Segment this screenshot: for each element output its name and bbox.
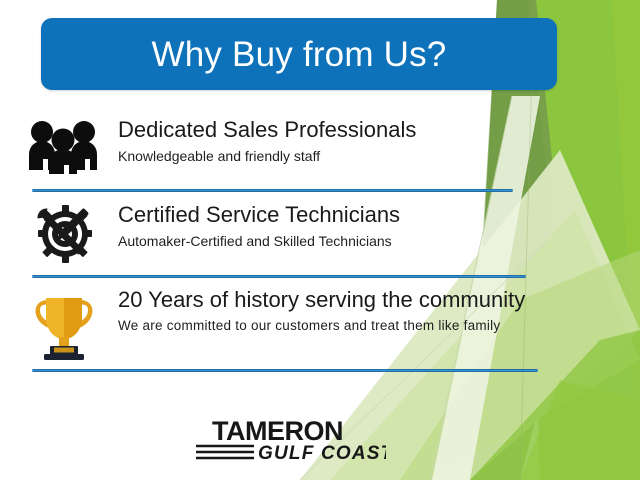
trophy-icon: [28, 290, 100, 367]
page-title: Why Buy from Us?: [152, 37, 447, 72]
logo-primary-text: TAMERON: [212, 416, 343, 446]
gear-tools-icon: [24, 203, 102, 270]
row-divider-2: [32, 275, 526, 278]
slide-title-banner: Why Buy from Us?: [41, 18, 557, 90]
logo-lines: [196, 446, 254, 458]
feature-row-1: Dedicated Sales Professionals Knowledgea…: [0, 118, 640, 190]
feature-row-2: Certified Service Technicians Automaker-…: [0, 203, 640, 275]
logo-secondary-text: GULF COAST: [258, 443, 386, 464]
row-divider-3: [32, 369, 538, 372]
people-icon: [26, 118, 100, 179]
feature-subtext: We are committed to our customers and tr…: [118, 319, 525, 333]
slide-canvas: Why Buy from Us? Dedicated Sales Profess…: [0, 0, 640, 480]
row-divider-1: [32, 189, 513, 192]
feature-heading: Certified Service Technicians: [118, 203, 400, 226]
feature-subtext: Knowledgeable and friendly staff: [118, 149, 416, 164]
feature-heading: 20 Years of history serving the communit…: [118, 288, 525, 311]
feature-subtext: Automaker-Certified and Skilled Technici…: [118, 234, 400, 249]
tameron-gulf-coast-logo: TAMERON GULF COAST: [196, 414, 386, 466]
feature-heading: Dedicated Sales Professionals: [118, 118, 416, 141]
feature-row-3: 20 Years of history serving the communit…: [0, 288, 640, 366]
